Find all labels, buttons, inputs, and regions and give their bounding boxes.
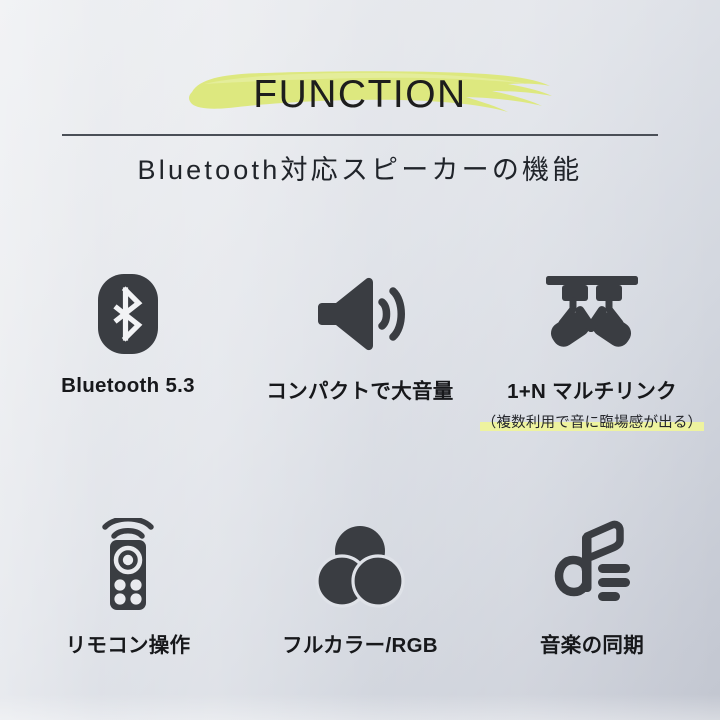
header-divider (62, 134, 658, 136)
feature-item-multilink: 1+N マルチリンク （複数利用で音に臨場感が出る） (476, 268, 708, 432)
feature-row: Bluetooth 5.3 コンパクトで大音量 (12, 268, 708, 432)
feature-item-bluetooth: Bluetooth 5.3 (12, 268, 244, 398)
bottom-fade (0, 694, 720, 720)
track-lights-icon (540, 273, 644, 355)
feature-row: リモコン操作 フルカラー/RGB (12, 518, 708, 658)
bluetooth-icon (98, 274, 158, 354)
feature-label: コンパクトで大音量 (266, 374, 453, 404)
icon-container (540, 268, 644, 360)
feature-sublabel: （複数利用で音に臨場感が出る） (482, 411, 703, 432)
feature-label: リモコン操作 (66, 628, 191, 658)
feature-label: Bluetooth 5.3 (61, 374, 195, 398)
speaker-volume-icon (314, 275, 406, 353)
icon-container (546, 518, 638, 614)
feature-label: フルカラー/RGB (282, 628, 438, 658)
header: FUNCTION Bluetooth対応スピーカーの機能 (0, 0, 720, 200)
feature-item-loudness: コンパクトで大音量 (244, 268, 476, 404)
icon-container (92, 518, 164, 614)
feature-grid: Bluetooth 5.3 コンパクトで大音量 (12, 268, 708, 658)
feature-label: 音楽の同期 (540, 628, 644, 658)
feature-item-rgb: フルカラー/RGB (244, 518, 476, 658)
icon-container (314, 518, 406, 614)
feature-label: 1+N マルチリンク (507, 374, 677, 404)
page-subtitle: Bluetooth対応スピーカーの機能 (0, 151, 720, 189)
icon-container (98, 268, 158, 360)
feature-item-music-sync: 音楽の同期 (476, 518, 708, 658)
feature-item-remote: リモコン操作 (12, 518, 244, 658)
page-title: FUNCTION (0, 72, 720, 118)
icon-container (314, 268, 406, 360)
remote-control-icon (92, 518, 164, 614)
music-note-sync-icon (546, 520, 638, 612)
function-feature-panel: FUNCTION Bluetooth対応スピーカーの機能 Bluetooth 5… (0, 0, 720, 720)
rgb-circles-icon (314, 523, 406, 609)
